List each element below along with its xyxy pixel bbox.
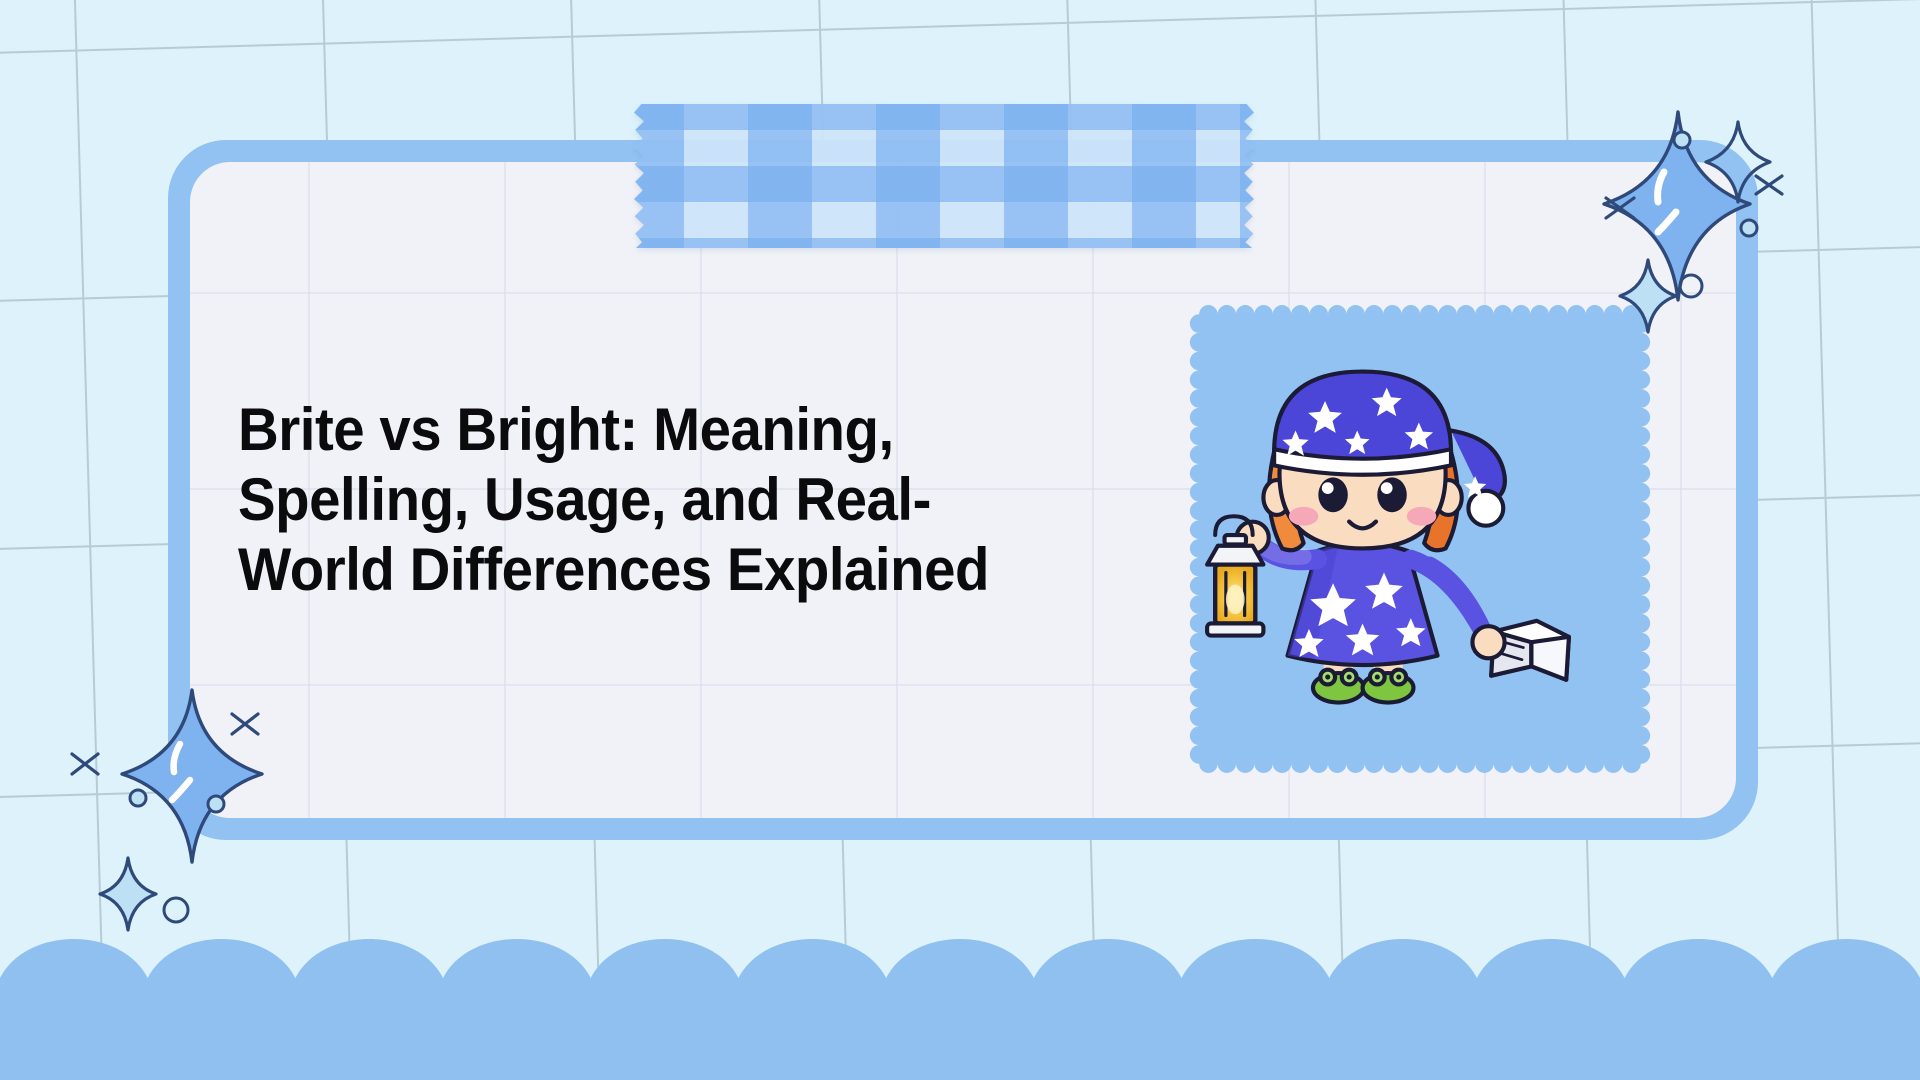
washi-tape-check-pattern <box>634 104 1254 248</box>
page-title-line-1: Brite vs Bright: Meaning, <box>238 395 1140 465</box>
circle-outline-icon <box>164 898 188 922</box>
page-title-line-2: Spelling, Usage, and Real- <box>238 465 1140 535</box>
page-title: Brite vs Bright: Meaning, Spelling, Usag… <box>238 395 1198 606</box>
cheek-right <box>1407 507 1436 526</box>
small-circle-icon <box>130 790 146 806</box>
bottom-scalloped-wave <box>0 920 1920 1080</box>
banner-canvas: Brite vs Bright: Meaning, Spelling, Usag… <box>0 0 1920 1080</box>
cheek-left <box>1289 507 1318 526</box>
illustration-panel <box>1190 305 1650 773</box>
page-title-line-3: World Differences Explained <box>238 535 1140 605</box>
washi-tape <box>634 104 1254 248</box>
small-filled-star-icon <box>100 858 156 930</box>
